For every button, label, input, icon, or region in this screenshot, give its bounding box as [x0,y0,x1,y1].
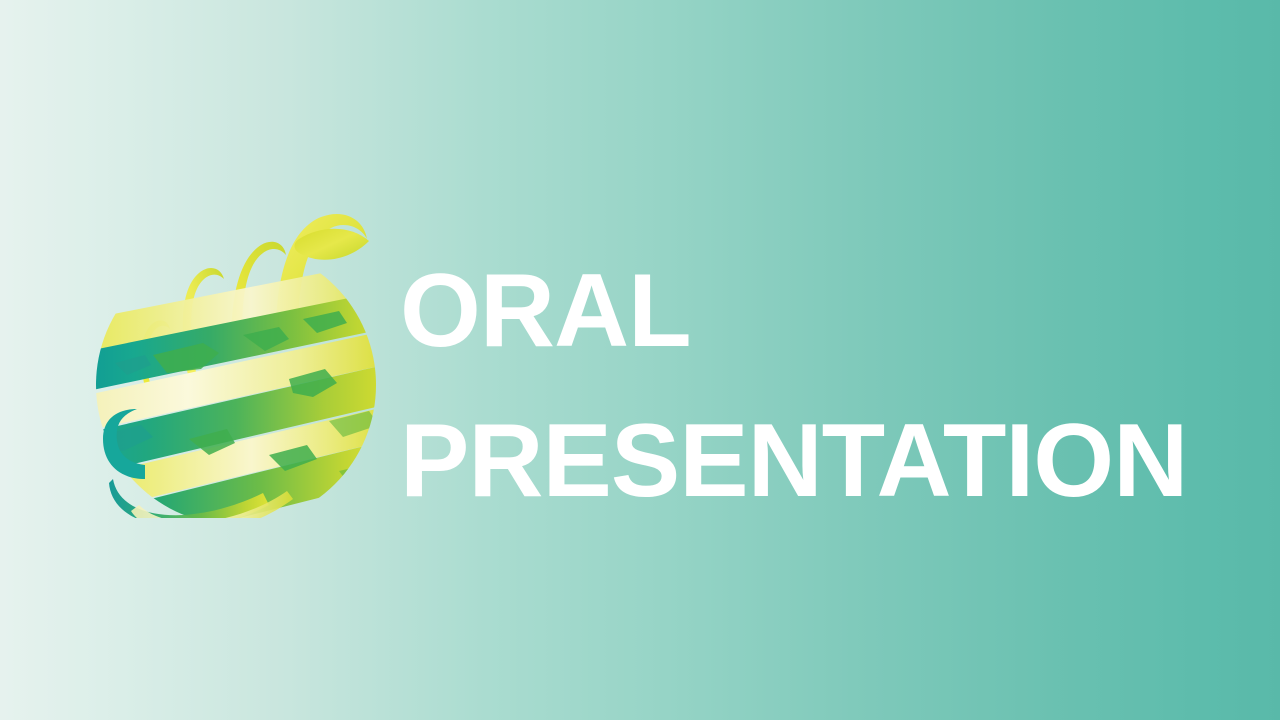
slide-title: ORAL PRESENTATION [400,236,1200,536]
globe-ribbon-logo [93,203,378,518]
title-line-2: PRESENTATION [400,386,1200,536]
logo-globe-bands [93,259,378,518]
slide-canvas: ORAL PRESENTATION [0,0,1280,720]
title-line-1: ORAL [400,236,1200,386]
